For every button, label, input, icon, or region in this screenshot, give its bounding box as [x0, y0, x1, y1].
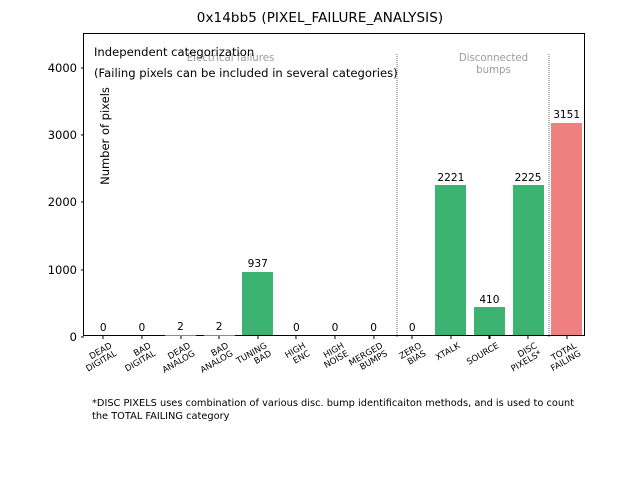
x-tick-label: TOTALFAILING: [545, 342, 583, 375]
x-tick-label: DEADDIGITAL: [81, 342, 119, 375]
x-tick-mark: [489, 335, 490, 339]
x-tick-label: HIGHNOISE: [319, 342, 351, 371]
bar[interactable]: 2225: [513, 185, 544, 335]
x-tick-label: XTALK: [434, 342, 462, 363]
bar-value-label: 937: [248, 258, 268, 270]
x-tick-label: DISCPIXELS*: [506, 342, 544, 375]
x-tick-label-line: XTALK: [434, 342, 462, 363]
x-tick-mark: [296, 335, 297, 339]
figure-canvas: 0x14bb5 (PIXEL_FAILURE_ANALYSIS) Number …: [0, 0, 640, 480]
group-divider: [396, 54, 397, 337]
y-tick-label: 0: [70, 330, 84, 344]
y-tick-label: 2000: [48, 195, 84, 209]
y-tick-label: 1000: [48, 263, 84, 277]
footnote-disc-pixels: *DISC PIXELS uses combination of various…: [92, 398, 592, 424]
bar-value-label: 3151: [553, 109, 580, 121]
bar-value-label: 0: [100, 322, 107, 334]
bar[interactable]: 410: [474, 307, 505, 335]
x-tick-label: MERGEDBUMPS: [348, 342, 390, 377]
y-tick-label: 3000: [48, 128, 84, 142]
bar-value-label: 0: [409, 322, 416, 334]
y-tick-label: 4000: [48, 61, 84, 75]
x-tick-label: ZEROBIAS: [398, 342, 428, 370]
bar-value-label: 0: [293, 322, 300, 334]
x-tick-mark: [180, 335, 181, 339]
bar[interactable]: 3151: [551, 123, 582, 335]
bar[interactable]: 937: [242, 272, 273, 335]
bar-value-label: 410: [479, 294, 499, 306]
annotation-several-categories: (Failing pixels can be included in sever…: [94, 66, 398, 80]
x-tick-mark: [412, 335, 413, 339]
bar-value-label: 0: [370, 322, 377, 334]
x-tick-label-line: SOURCE: [466, 342, 501, 368]
x-tick-mark: [257, 335, 258, 339]
x-tick-label: BADDIGITAL: [119, 342, 157, 375]
x-tick-label: DEADANALOG: [156, 342, 197, 376]
bar-value-label: 2221: [437, 172, 464, 184]
x-tick-mark: [219, 335, 220, 339]
bar[interactable]: 2221: [435, 185, 466, 335]
annotation-independent-categorization: Independent categorization: [94, 45, 254, 59]
group-label: Disconnected bumps: [459, 53, 528, 76]
x-tick-mark: [373, 335, 374, 339]
group-divider: [549, 54, 550, 337]
x-tick-label: HIGHENC: [284, 342, 312, 369]
bar-value-label: 0: [139, 322, 146, 334]
bar-value-label: 0: [332, 322, 339, 334]
x-tick-mark: [141, 335, 142, 339]
x-tick-mark: [103, 335, 104, 339]
x-tick-mark: [450, 335, 451, 339]
x-tick-label: BADANALOG: [195, 342, 236, 376]
x-tick-mark: [528, 335, 529, 339]
bar-value-label: 2: [177, 321, 184, 333]
x-tick-label: SOURCE: [466, 342, 501, 368]
x-tick-mark: [334, 335, 335, 339]
x-tick-label: TUNINGBAD: [235, 342, 273, 375]
plot-area: Number of pixels 01000200030004000 DEADD…: [83, 33, 585, 336]
bar-value-label: 2225: [515, 172, 542, 184]
page-title: 0x14bb5 (PIXEL_FAILURE_ANALYSIS): [0, 10, 640, 26]
x-tick-mark: [566, 335, 567, 339]
bar-value-label: 2: [216, 321, 223, 333]
